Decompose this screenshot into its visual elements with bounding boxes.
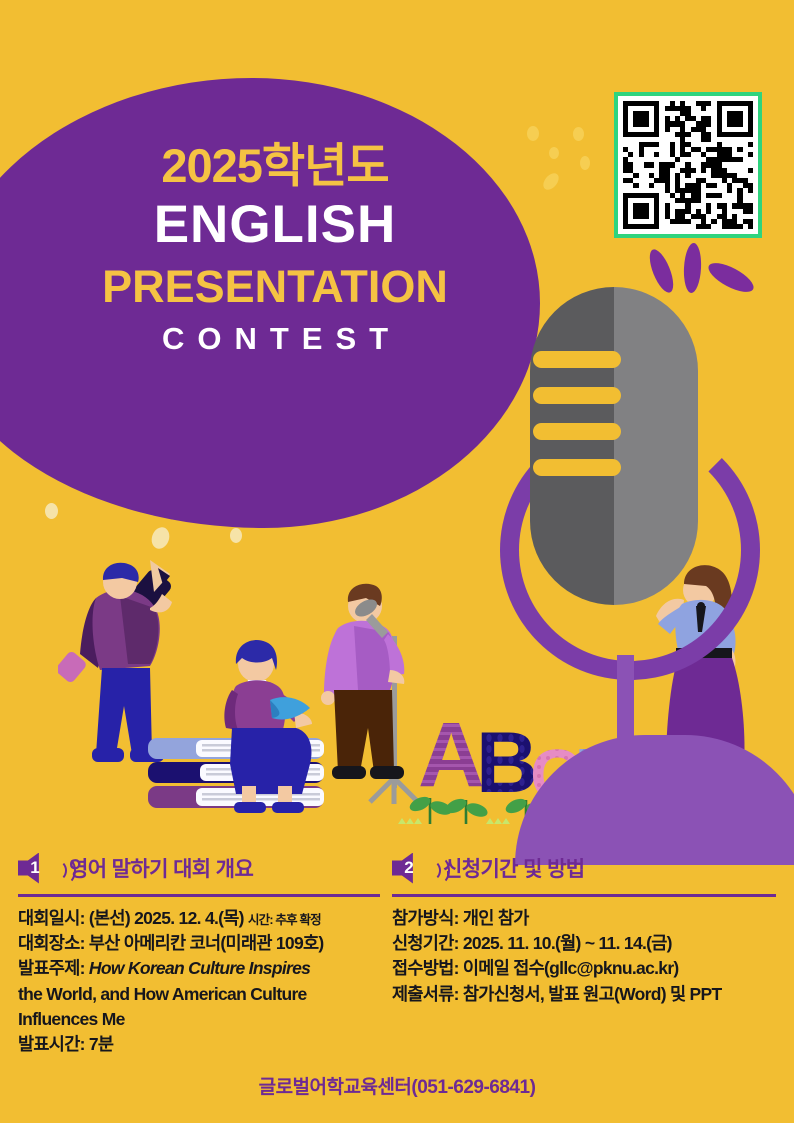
section-2-divider — [392, 894, 776, 897]
list-item: the World, and How American Culture — [18, 982, 380, 1007]
section-1-header: 1 영어 말하기 대회 개요 — [18, 848, 380, 888]
section-1-title: 영어 말하기 대회 개요 — [69, 853, 253, 883]
footer-contact: 글로벌어학교육센터(051-629-6841) — [0, 1072, 794, 1099]
microphone-capsule-right — [614, 287, 698, 605]
section-1-number: 1 — [22, 853, 48, 884]
poster-canvas: 2025학년도 ENGLISH PRESENTATION CONTEST — [0, 0, 794, 1123]
list-item: 신청기간: 2025. 11. 10.(월) ~ 11. 14.(금) — [392, 931, 776, 956]
title-contest: CONTEST — [60, 316, 490, 363]
microphone-capsule-left — [530, 287, 614, 605]
list-item: 제출서류: 참가신청서, 발표 원고(Word) 및 PPT — [392, 982, 776, 1007]
title-presentation: PRESENTATION — [60, 258, 490, 317]
list-item: 발표시간: 7분 — [18, 1032, 380, 1057]
section-2: 2 신청기간 및 방법 참가방식: 개인 참가 신청기간: 2025. 11. … — [392, 848, 776, 1007]
qr-code-inner — [618, 96, 758, 234]
section-1-divider — [18, 894, 380, 897]
section-2-number: 2 — [396, 853, 422, 884]
list-item: Influences Me — [18, 1007, 380, 1032]
list-item: 대회일시: (본선) 2025. 12. 4.(목) 시간: 추후 확정 — [18, 906, 380, 931]
title-year: 2025학년도 — [60, 140, 490, 192]
qr-code-modules — [623, 101, 753, 229]
poster-title-block: 2025학년도 ENGLISH PRESENTATION CONTEST — [60, 140, 490, 363]
list-item: 참가방식: 개인 참가 — [392, 906, 776, 931]
section-2-header: 2 신청기간 및 방법 — [392, 848, 776, 888]
microphone-post — [617, 655, 634, 765]
microphone-capsule — [530, 287, 698, 605]
section-1-lines: 대회일시: (본선) 2025. 12. 4.(목) 시간: 추후 확정 대회장… — [18, 906, 380, 1057]
section-2-title: 신청기간 및 방법 — [443, 853, 585, 883]
section-1: 1 영어 말하기 대회 개요 대회일시: (본선) 2025. 12. 4.(목… — [18, 848, 380, 1057]
qr-code[interactable] — [614, 92, 762, 238]
title-english: ENGLISH — [60, 192, 490, 258]
speaker-badge-icon: 2 — [392, 853, 436, 884]
section-2-lines: 참가방식: 개인 참가 신청기간: 2025. 11. 10.(월) ~ 11.… — [392, 906, 776, 1007]
list-item: 발표주제: How Korean Culture Inspires — [18, 956, 380, 981]
speaker-badge-icon: 1 — [18, 853, 62, 884]
list-item: 접수방법: 이메일 접수(gllc@pknu.ac.kr) — [392, 956, 776, 981]
list-item: 대회장소: 부산 아메리칸 코너(미래관 109호) — [18, 931, 380, 956]
